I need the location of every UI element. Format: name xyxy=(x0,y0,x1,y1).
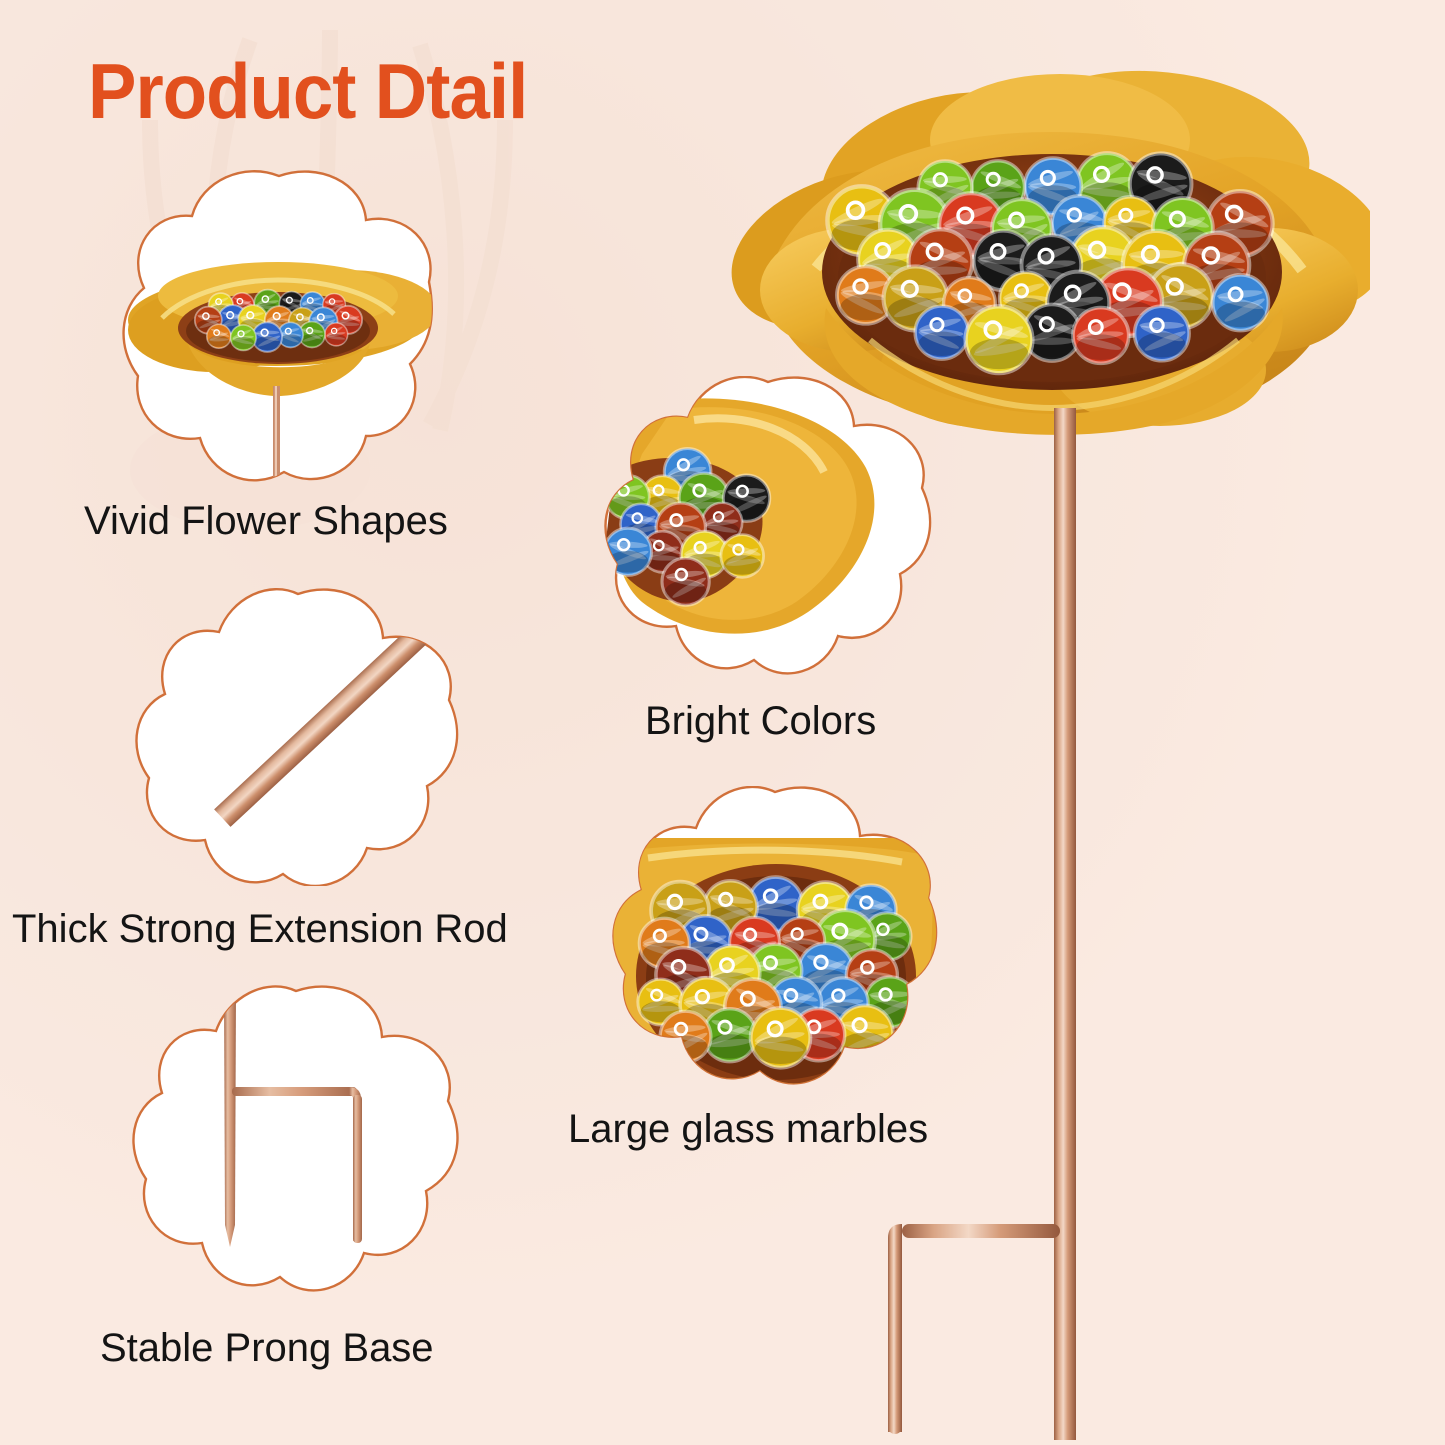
glass-marble xyxy=(604,528,651,575)
prong-base-support xyxy=(888,1224,1060,1434)
main-stake-rod xyxy=(1054,408,1076,1440)
scalloped-flower-frame xyxy=(128,985,464,1297)
caption-prong-base: Stable Prong Base xyxy=(100,1327,434,1369)
glass-marble xyxy=(915,306,968,359)
scalloped-flower-frame xyxy=(118,168,440,488)
hero-product-image xyxy=(730,40,1370,1440)
callout-card-prong-base xyxy=(128,985,464,1297)
callout-card-vivid-flower-shapes xyxy=(118,168,440,488)
scalloped-flower-frame xyxy=(133,588,463,886)
glass-marble xyxy=(1135,306,1190,361)
glass-marble xyxy=(1213,275,1269,331)
glass-marble xyxy=(966,306,1033,373)
page-title: Product Dtail xyxy=(88,52,527,130)
caption-vivid-flower-shapes: Vivid Flower Shapes xyxy=(84,500,448,542)
glass-marble xyxy=(662,558,709,605)
glass-marble xyxy=(207,324,231,348)
caption-extension-rod: Thick Strong Extension Rod xyxy=(12,908,508,950)
glass-marble xyxy=(325,323,348,346)
glass-marble xyxy=(231,325,257,351)
glass-marble xyxy=(1073,308,1129,364)
flower-bowl xyxy=(730,57,1370,435)
callout-card-extension-rod xyxy=(133,588,463,886)
